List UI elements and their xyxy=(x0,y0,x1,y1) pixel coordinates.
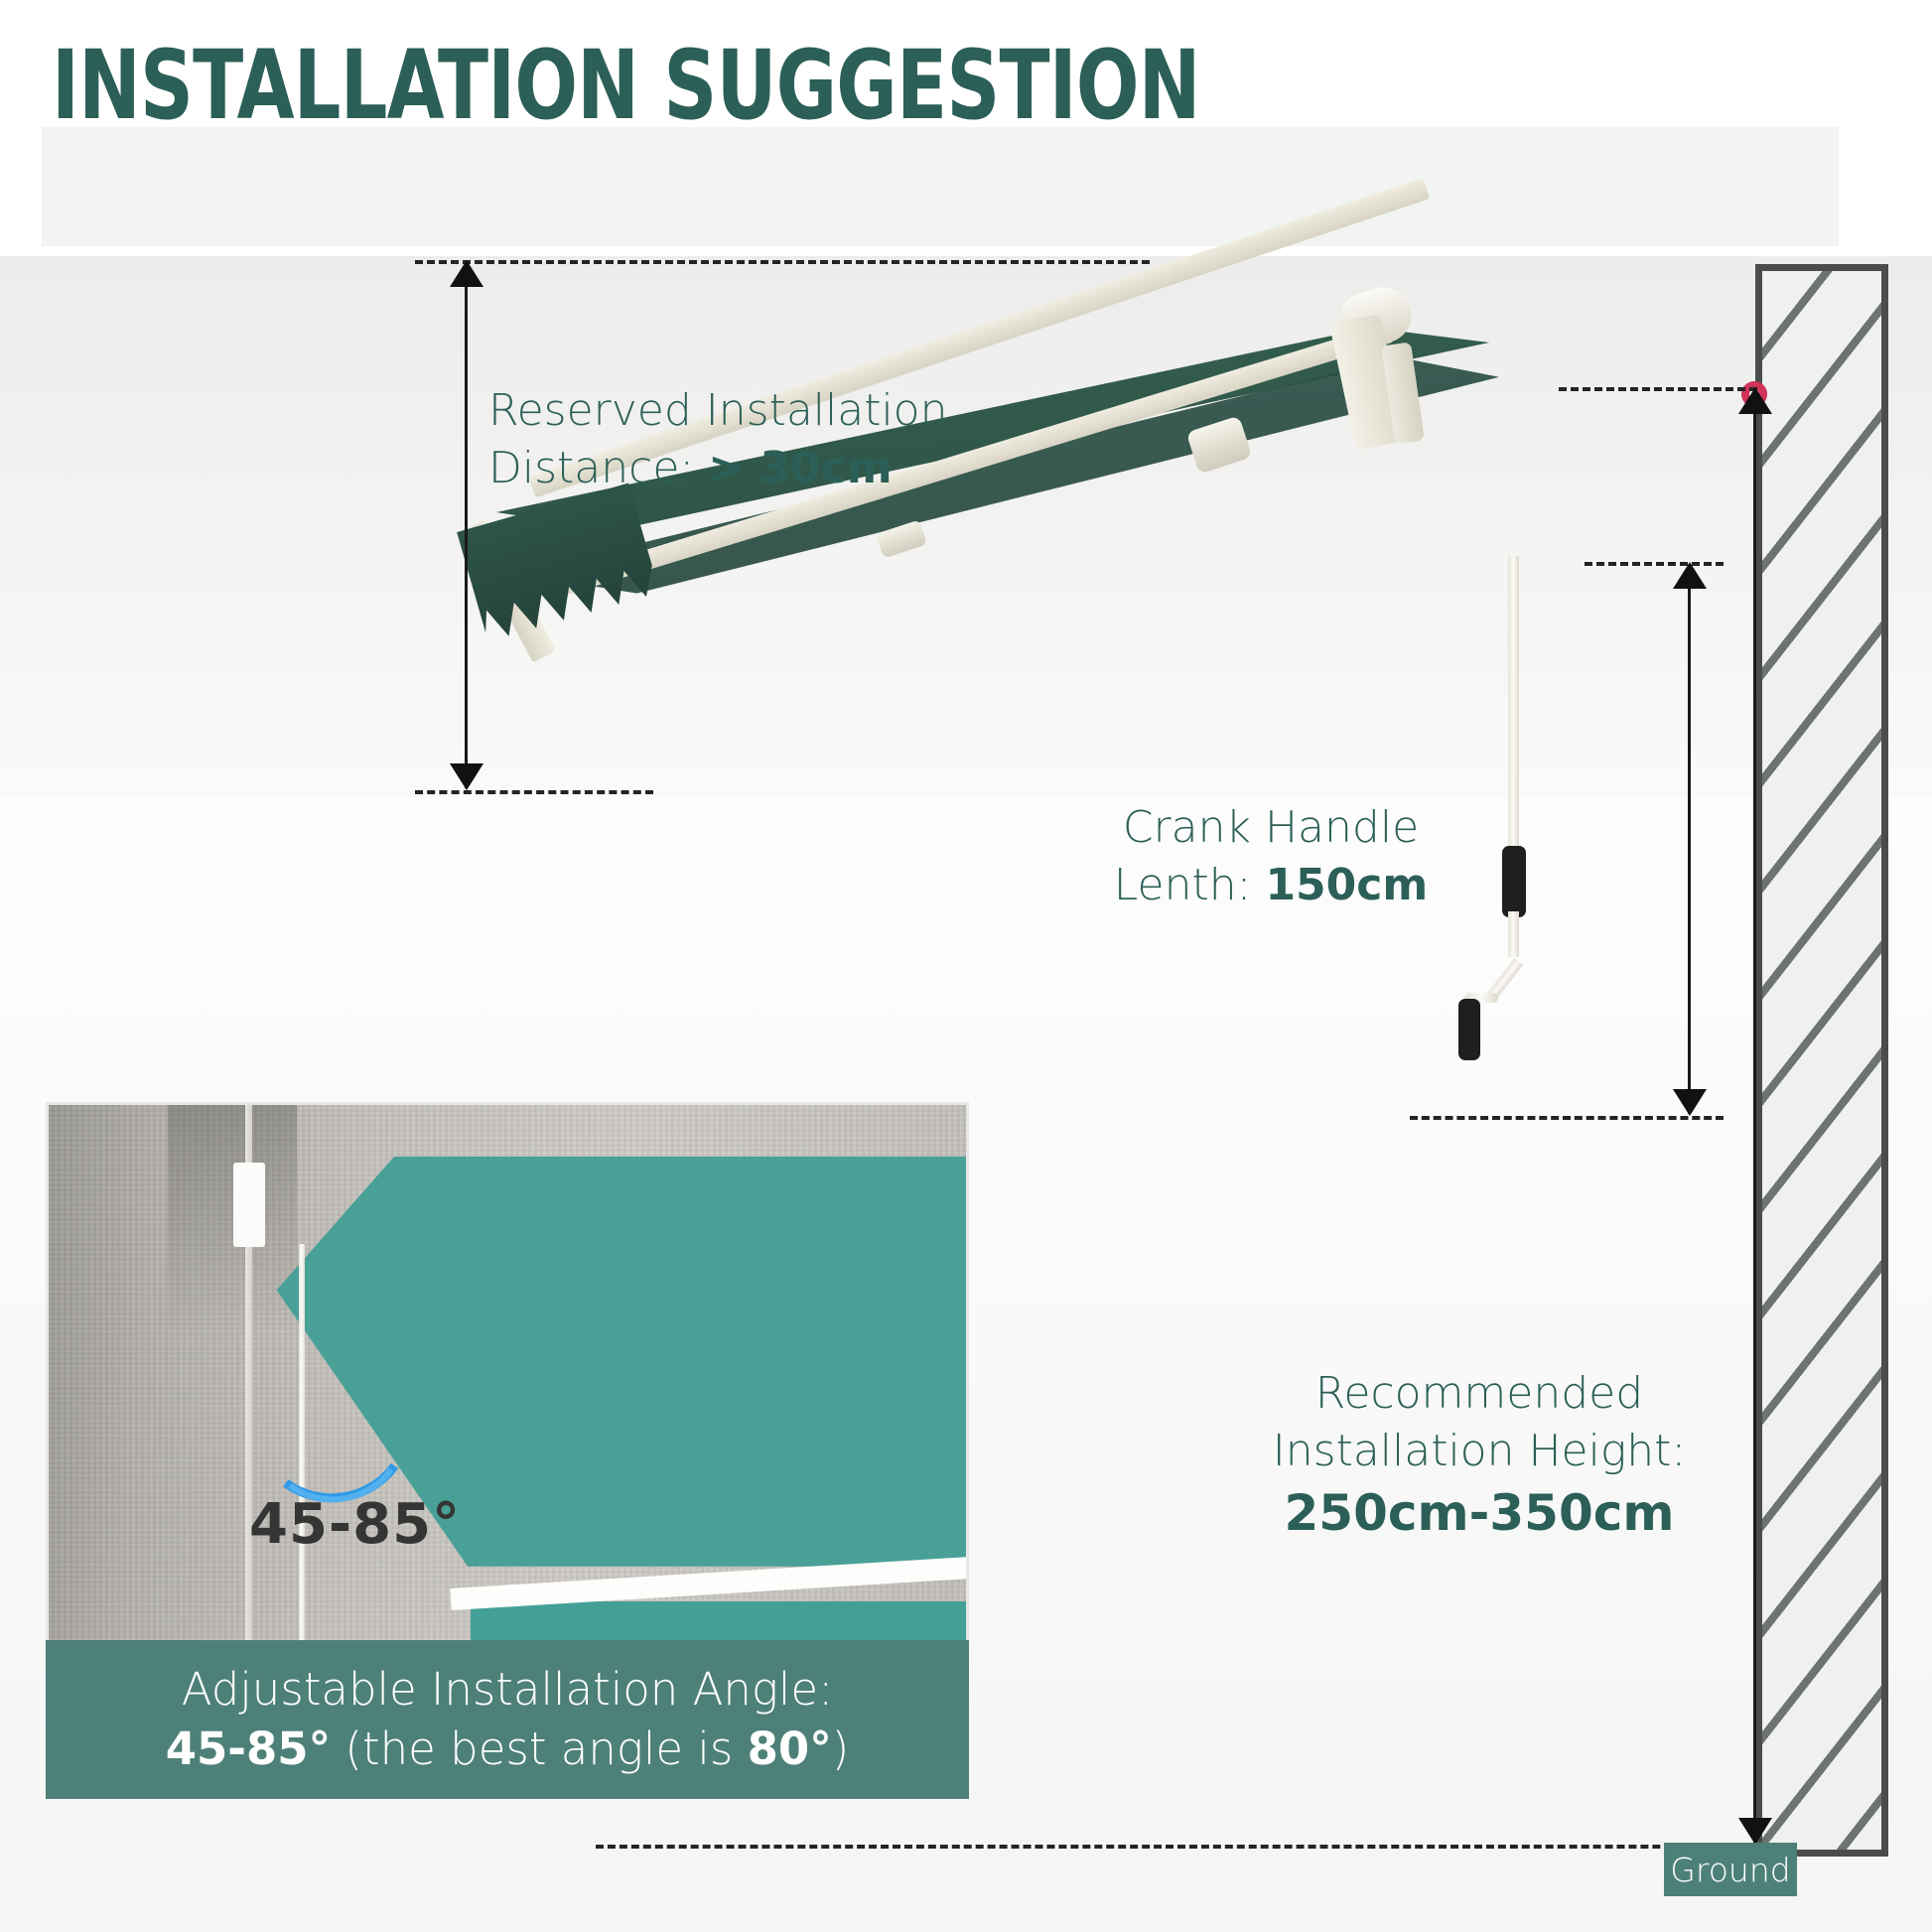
caption-angle-range: 45-85° xyxy=(166,1723,331,1775)
crank-handle-value: 150cm xyxy=(1265,860,1428,910)
installation-angle-caption: Adjustable Installation Angle: 45-85° (t… xyxy=(46,1640,969,1799)
crank-handle-line1: Crank Handle xyxy=(1072,799,1469,857)
crank-handle-line2: Lenth: 150cm xyxy=(1072,857,1469,914)
crank-handle-label: Lenth: xyxy=(1114,860,1266,910)
crank-rod-lower xyxy=(1508,911,1519,957)
reserved-distance-dimension-line xyxy=(465,264,468,788)
reserved-distance-arrow-bottom xyxy=(450,763,483,790)
caption-end-text: ) xyxy=(832,1723,850,1775)
caption-best-angle: 80° xyxy=(748,1723,832,1775)
crank-rod xyxy=(1508,556,1519,854)
caption-line2: 45-85° (the best angle is 80°) xyxy=(166,1720,850,1779)
crank-end-handle xyxy=(1458,999,1480,1060)
install-height-arrow-bottom xyxy=(1738,1818,1772,1845)
crank-length-bottom-extension-line xyxy=(1410,1116,1724,1120)
installation-height-line2: Installation Height: xyxy=(1221,1423,1737,1480)
reserved-distance-callout: Reserved Installation Distance: > 30cm xyxy=(488,382,1005,497)
crank-grip-sleeve xyxy=(1502,846,1526,917)
reserved-distance-bottom-extension-line xyxy=(415,790,653,794)
crank-length-arrow-top xyxy=(1673,562,1707,589)
reserved-distance-line1: Reserved Installation xyxy=(488,382,1005,440)
crank-length-dimension-line xyxy=(1688,566,1691,1114)
reserved-distance-arrow-top xyxy=(450,260,483,287)
wall-shadow xyxy=(168,1105,297,1333)
reserved-distance-label: Distance: xyxy=(488,443,708,493)
angle-range-label: 45-85° xyxy=(249,1492,461,1557)
reserved-distance-line2: Distance: > 30cm xyxy=(488,440,1005,497)
crank-handle-callout: Crank Handle Lenth: 150cm xyxy=(1072,799,1469,914)
ground-extension-line xyxy=(596,1845,1767,1849)
crank-length-arrow-bottom xyxy=(1673,1089,1707,1116)
install-height-dimension-line xyxy=(1753,391,1756,1843)
title-background-band xyxy=(42,127,1839,246)
installation-height-line1: Recommended xyxy=(1221,1365,1737,1423)
caption-line1: Adjustable Installation Angle: xyxy=(182,1660,834,1720)
installation-height-value: 250cm-350cm xyxy=(1221,1480,1737,1546)
ground-label: Ground xyxy=(1664,1843,1797,1896)
installation-height-callout: Recommended Installation Height: 250cm-3… xyxy=(1221,1365,1737,1546)
crank-handle xyxy=(1486,556,1546,1112)
reserved-distance-top-extension-line xyxy=(415,260,1150,264)
page-title: INSTALLATION SUGGESTION xyxy=(52,30,1200,141)
install-height-top-extension-line xyxy=(1559,387,1757,391)
photo-wall-bracket xyxy=(233,1163,265,1247)
caption-mid-text: (the best angle is xyxy=(331,1723,748,1775)
reserved-distance-value: > 30cm xyxy=(708,443,892,493)
install-height-arrow-top xyxy=(1738,387,1772,414)
